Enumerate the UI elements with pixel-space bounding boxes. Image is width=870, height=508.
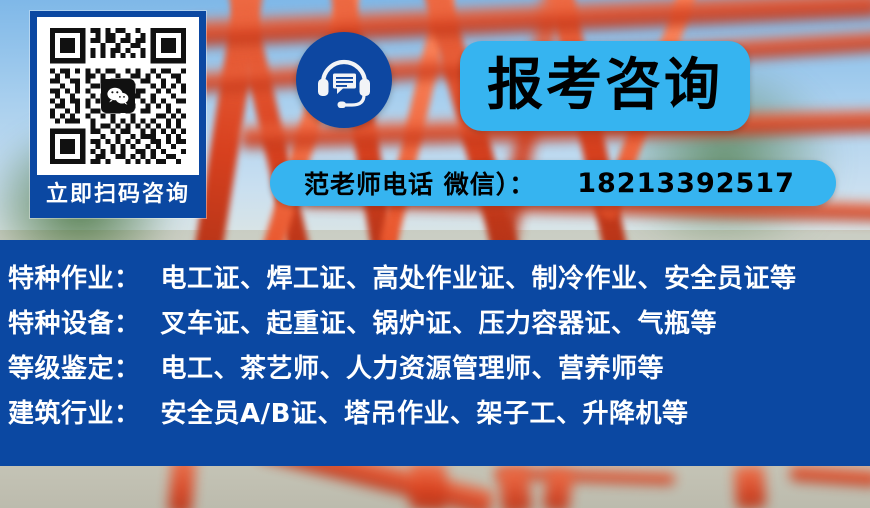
qr-panel[interactable]: 立即扫码咨询 <box>30 11 206 218</box>
service-items: 电工证、焊工证、高处作业证、制冷作业、安全员证等 <box>161 258 797 295</box>
contact-label: 范老师电话 微信）： <box>304 165 535 201</box>
crane-beam-lower <box>410 462 446 508</box>
service-row: 特种作业： 电工证、焊工证、高处作业证、制冷作业、安全员证等 <box>0 258 870 303</box>
service-items: 电工、茶艺师、人力资源管理师、营养师等 <box>161 348 665 385</box>
service-row: 建筑行业： 安全员A/B证、塔吊作业、架子工、升降机等 <box>0 393 870 438</box>
crane-beam-lower <box>542 468 574 508</box>
services-band: 特种作业： 电工证、焊工证、高处作业证、制冷作业、安全员证等 特种设备： 叉车证… <box>0 240 870 466</box>
service-category: 特种作业： <box>8 258 141 295</box>
service-category: 建筑行业： <box>8 393 141 430</box>
title-pill: 报考咨询 <box>460 41 750 131</box>
headset-badge <box>296 32 392 128</box>
service-category: 等级鉴定： <box>8 348 141 385</box>
wechat-icon <box>101 79 135 113</box>
page-title: 报考咨询 <box>487 58 723 114</box>
crane-beam-lower <box>498 467 533 508</box>
headset-support-icon <box>313 50 375 110</box>
qr-caption: 立即扫码咨询 <box>33 175 203 215</box>
service-row: 等级鉴定： 电工、茶艺师、人力资源管理师、营养师等 <box>0 348 870 393</box>
service-items: 叉车证、起重证、锅炉证、压力容器证、气瓶等 <box>161 303 718 340</box>
contact-phone-number[interactable]: 18213392517 <box>577 168 795 199</box>
contact-pill[interactable]: 范老师电话 微信）： 18213392517 <box>270 160 836 206</box>
qr-code[interactable] <box>45 23 191 169</box>
crane-beam-lower <box>734 464 767 508</box>
service-category: 特种设备： <box>8 303 141 340</box>
qr-code-frame[interactable] <box>37 17 199 175</box>
wechat-glyph <box>106 86 130 106</box>
service-items: 安全员A/B证、塔吊作业、架子工、升降机等 <box>161 393 689 430</box>
service-row: 特种设备： 叉车证、起重证、锅炉证、压力容器证、气瓶等 <box>0 303 870 348</box>
promo-poster: 立即扫码咨询 报考咨询 范老师电话 微信）： 18213392517 <box>0 0 870 508</box>
